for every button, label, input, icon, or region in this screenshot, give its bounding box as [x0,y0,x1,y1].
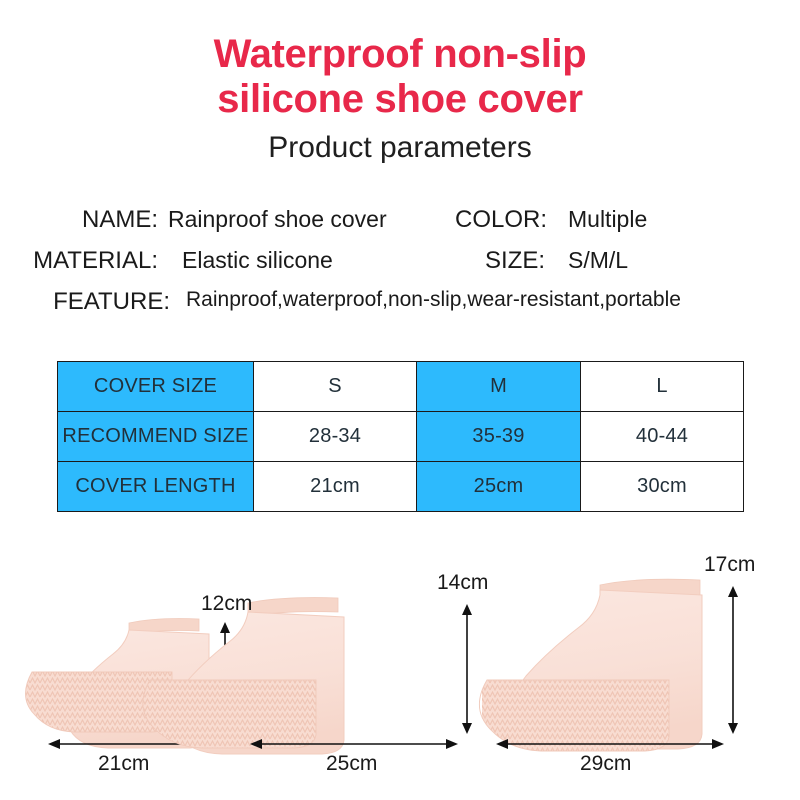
shoe-medium-height-label: 14cm [437,571,488,595]
product-parameters: NAME: Rainproof shoe cover COLOR: Multip… [0,206,800,329]
table-cell-row0-s: S [254,362,417,412]
param-row-material: MATERIAL: Elastic silicone SIZE: S/M/L [0,247,800,288]
table-cell-row2-label: COVER LENGTH [58,462,254,512]
param-value-material: Elastic silicone [182,247,333,274]
param-label-feature: FEATURE: [0,288,170,316]
size-table: COVER SIZE S M L RECOMMEND SIZE 28-34 35… [57,361,744,512]
table-row: COVER SIZE S M L [58,362,744,412]
param-label-size: SIZE: [455,247,545,275]
param-value-size: S/M/L [568,247,628,274]
table-cell-row1-s: 28-34 [254,412,417,462]
shoe-large [479,579,732,760]
table-row: RECOMMEND SIZE 28-34 35-39 40-44 [58,412,744,462]
param-label-name: NAME: [0,206,158,234]
param-label-color: COLOR: [455,206,545,234]
page-title: Waterproof non-slip silicone shoe cover [0,32,800,122]
param-row-name: NAME: Rainproof shoe cover COLOR: Multip… [0,206,800,247]
shoe-small-width-label: 21cm [98,752,149,776]
product-infographic: Waterproof non-slip silicone shoe cover … [0,0,800,800]
shoe-medium-width-label: 25cm [326,752,377,776]
shoe-large-height-arrow [728,586,738,734]
shoe-small-height-label: 12cm [201,592,252,616]
table-cell-row1-m: 35-39 [417,412,581,462]
table-cell-row1-l: 40-44 [581,412,744,462]
table-cell-row0-label: COVER SIZE [58,362,254,412]
table-cell-row1-label: RECOMMEND SIZE [58,412,254,462]
table-row: COVER LENGTH 21cm 25cm 30cm [58,462,744,512]
table-cell-row2-s: 21cm [254,462,417,512]
table-cell-row0-m: M [417,362,581,412]
param-label-material: MATERIAL: [0,247,158,275]
shoe-large-height-label: 17cm [704,553,755,577]
param-row-feature: FEATURE: Rainproof,waterproof,non-slip,w… [0,288,800,329]
table-cell-row0-l: L [581,362,744,412]
shoe-large-width-label: 29cm [580,752,631,776]
param-value-color: Multiple [568,206,647,233]
title-line-1: Waterproof non-slip [0,32,800,77]
shoe-medium-height-arrow [462,604,472,734]
title-line-2: silicone shoe cover [0,77,800,122]
shoe-size-illustrations: 12cm 21cm 14cm 25cm 17cm 29cm [0,530,800,800]
table-cell-row2-m: 25cm [417,462,581,512]
subtitle: Product parameters [0,130,800,166]
param-value-feature: Rainproof,waterproof,non-slip,wear-resis… [186,288,681,312]
param-value-name: Rainproof shoe cover [168,206,387,233]
table-cell-row2-l: 30cm [581,462,744,512]
